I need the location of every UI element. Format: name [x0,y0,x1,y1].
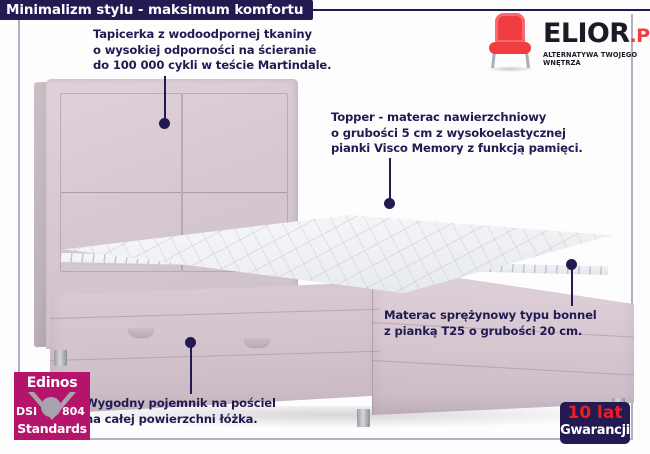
callout-dot-topper [384,198,395,209]
chair-backrest [495,13,525,43]
callout-dot-mattress [566,259,577,270]
edinos-circle [41,397,61,417]
edinos-checkmark-icon: DSI 804 [14,391,90,423]
edinos-code-left: DSI [16,405,37,418]
warranty-badge: 10 lat Gwarancji [560,402,630,444]
bed-leg [54,350,67,366]
brand-logo: ELIOR.PL ALTERNATYWA TWOJEGO WNĘTRZA [483,12,631,74]
headboard-panel-2 [182,93,288,193]
callout-text-topper: Topper - materac nawierzchniowy o gruboś… [331,110,583,157]
callout-text-upholstery: Tapicerka z wodoodpornej tkaniny o wysok… [93,27,331,74]
brand-name-suffix: .PL [629,25,650,47]
edinos-code-right: 804 [62,405,85,418]
callout-dot-storage [185,337,196,348]
chair-seat [489,42,531,54]
page-title: Minimalizm stylu - maksimum komfortu [0,0,313,20]
callout-leader-line-upholstery [164,76,166,122]
edinos-title: Edinos [14,372,90,391]
brand-tagline: ALTERNATYWA TWOJEGO WNĘTRZA [543,51,650,67]
warranty-label: Gwarancji [560,423,630,439]
bed-leg [357,409,370,427]
red-chair-icon [483,12,537,70]
header-rule [272,9,650,11]
callout-leader-line-storage [190,344,192,394]
warranty-years: 10 lat [560,402,630,423]
infographic-canvas: Minimalizm stylu - maksimum komfortu [0,0,650,454]
brand-name: ELIOR.PL [543,20,650,50]
edinos-certification-badge: Edinos DSI 804 Standards [14,372,90,440]
callout-text-mattress: Materac sprężynowy typu bonnel z pianką … [384,308,597,339]
edinos-subtitle: Standards [14,421,90,436]
callout-text-storage: Wygodny pojemnik na pościel na całej pow… [85,396,276,427]
mattress-topper [38,215,618,311]
frame-border-bottom [18,438,633,440]
callout-dot-upholstery [159,118,170,129]
brand-wordmark: ELIOR.PL ALTERNATYWA TWOJEGO WNĘTRZA [543,20,650,67]
callout-leader-line-topper [389,158,391,202]
chair-shadow [485,66,535,72]
callout-leader-line-mattress [571,266,573,306]
brand-name-main: ELIOR [543,18,629,49]
topper-quilt-pattern [64,215,612,293]
